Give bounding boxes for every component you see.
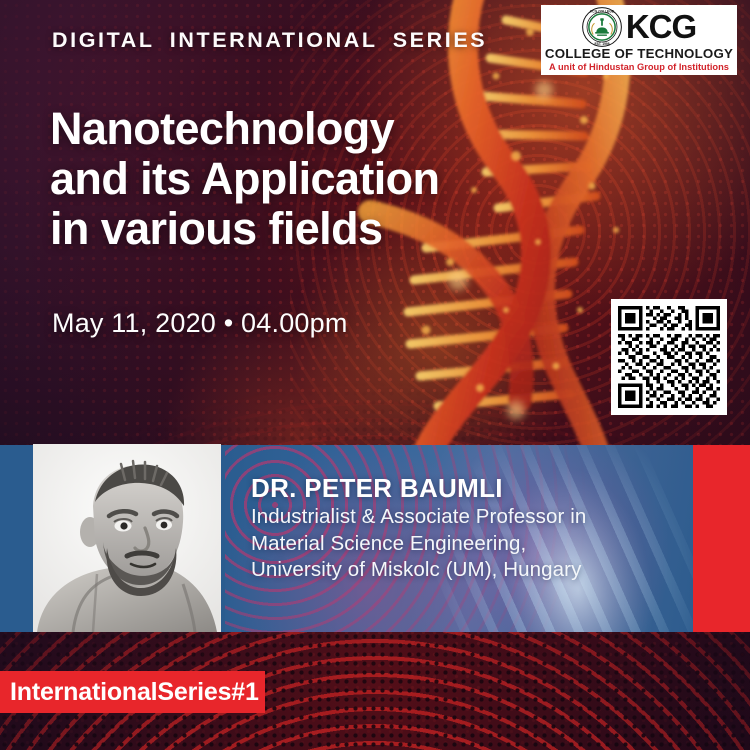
speaker-line-3: University of Miskolc (UM), Hungary	[251, 557, 671, 584]
speaker-portrait-photo	[33, 444, 221, 632]
qr-code-icon	[618, 306, 720, 408]
college-seal-icon: KCG COLLEGE EST. 1998	[582, 7, 622, 47]
event-datetime: May 11, 2020 • 04.00pm	[52, 308, 348, 339]
title-line-1: Nanotechnology	[50, 104, 480, 154]
speaker-name: DR. PETER BAUMLI	[251, 473, 671, 504]
speaker-line-2: Material Science Engineering,	[251, 531, 671, 558]
hashtag-label: InternationalSeries#1	[0, 678, 259, 707]
speaker-band-red-block	[693, 445, 750, 632]
poster-title: Nanotechnology and its Application in va…	[50, 104, 480, 254]
logo-tagline: A unit of Hindustan Group of Institution…	[549, 61, 729, 73]
qr-code[interactable]	[611, 299, 727, 415]
svg-text:KCG COLLEGE: KCG COLLEGE	[590, 10, 615, 14]
kcg-logo: KCG COLLEGE EST. 1998 KCG COLLEGE OF TEC…	[541, 5, 737, 75]
logo-row: KCG COLLEGE EST. 1998 KCG	[582, 7, 696, 47]
event-poster: DIGITAL INTERNATIONAL SERIES KCG COLLEGE…	[0, 0, 750, 750]
title-line-2: and its Application	[50, 154, 480, 204]
poster-eyebrow: DIGITAL INTERNATIONAL SERIES	[52, 28, 487, 53]
speaker-details: DR. PETER BAUMLI Industrialist & Associa…	[251, 473, 671, 584]
logo-title: KCG	[626, 8, 696, 46]
logo-subtitle: COLLEGE OF TECHNOLOGY	[545, 46, 733, 61]
speaker-line-1: Industrialist & Associate Professor in	[251, 504, 671, 531]
hashtag-banner: InternationalSeries#1	[0, 671, 265, 713]
portrait-illustration	[33, 444, 221, 632]
title-line-3: in various fields	[50, 204, 480, 254]
